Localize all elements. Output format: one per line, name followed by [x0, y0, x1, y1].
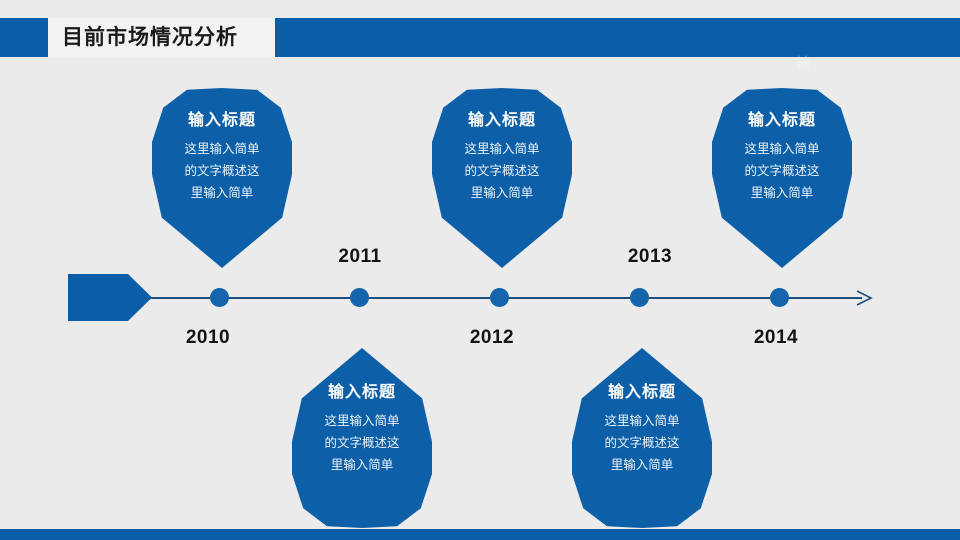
title-accent-block: [0, 18, 48, 57]
slide-canvas: 目前市场情况分析 输 2010 2011 2012 2013 2014 输入标题…: [0, 0, 960, 540]
pin-desc-line: 里输入简单: [584, 454, 700, 476]
pin-description: 这里输入简单 的文字概述这 里输入简单: [572, 410, 712, 476]
footer-accent-bar: [0, 529, 960, 540]
pin-desc-line: 这里输入简单: [164, 138, 280, 160]
pin-title: 输入标题: [432, 106, 572, 130]
pin-card-2014[interactable]: 输入标题 这里输入简单 的文字概述这 里输入简单: [712, 88, 852, 268]
pin-desc-line: 里输入简单: [304, 454, 420, 476]
year-label-2012: 2012: [470, 327, 514, 349]
pin-title: 输入标题: [152, 106, 292, 130]
pin-desc-line: 这里输入简单: [724, 138, 840, 160]
pin-desc-line: 的文字概述这: [164, 160, 280, 182]
timeline-arrow-icon: [856, 289, 874, 307]
page-title: 目前市场情况分析: [62, 18, 238, 57]
pin-title: 输入标题: [712, 106, 852, 130]
pin-content: 输入标题 这里输入简单 的文字概述这 里输入简单: [432, 106, 572, 204]
pin-desc-line: 里输入简单: [164, 182, 280, 204]
pin-card-2011[interactable]: 输入标题 这里输入简单 的文字概述这 里输入简单: [292, 348, 432, 528]
title-banner-bar: [275, 18, 960, 57]
timeline-dot-2014[interactable]: [770, 288, 789, 307]
pin-desc-line: 这里输入简单: [584, 410, 700, 432]
pin-desc-line: 这里输入简单: [304, 410, 420, 432]
timeline-dot-2011[interactable]: [350, 288, 369, 307]
pin-content: 输入标题 这里输入简单 的文字概述这 里输入简单: [712, 106, 852, 204]
pin-desc-line: 的文字概述这: [304, 432, 420, 454]
timeline-dot-2013[interactable]: [630, 288, 649, 307]
pin-desc-line: 的文字概述这: [584, 432, 700, 454]
year-label-2014: 2014: [754, 327, 798, 349]
pin-content: 输入标题 这里输入简单 的文字概述这 里输入简单: [572, 378, 712, 476]
pin-desc-line: 的文字概述这: [444, 160, 560, 182]
pin-description: 这里输入简单 的文字概述这 里输入简单: [292, 410, 432, 476]
ghost-watermark-text: 输: [796, 52, 811, 73]
year-label-2011: 2011: [338, 246, 381, 268]
pin-desc-line: 这里输入简单: [444, 138, 560, 160]
pin-content: 输入标题 这里输入简单 的文字概述这 里输入简单: [152, 106, 292, 204]
pin-description: 这里输入简单 的文字概述这 里输入简单: [432, 138, 572, 204]
year-label-2010: 2010: [186, 327, 230, 349]
pin-title: 输入标题: [292, 378, 432, 402]
pin-description: 这里输入简单 的文字概述这 里输入简单: [152, 138, 292, 204]
pin-card-2012[interactable]: 输入标题 这里输入简单 的文字概述这 里输入简单: [432, 88, 572, 268]
timeline-dot-2010[interactable]: [210, 288, 229, 307]
timeline-dot-2012[interactable]: [490, 288, 509, 307]
timeline-start-arrow-block: [68, 274, 152, 321]
pin-desc-line: 的文字概述这: [724, 160, 840, 182]
pin-title: 输入标题: [572, 378, 712, 402]
pin-description: 这里输入简单 的文字概述这 里输入简单: [712, 138, 852, 204]
pin-card-2013[interactable]: 输入标题 这里输入简单 的文字概述这 里输入简单: [572, 348, 712, 528]
pin-card-2010[interactable]: 输入标题 这里输入简单 的文字概述这 里输入简单: [152, 88, 292, 268]
pin-desc-line: 里输入简单: [724, 182, 840, 204]
pin-desc-line: 里输入简单: [444, 182, 560, 204]
pin-content: 输入标题 这里输入简单 的文字概述这 里输入简单: [292, 378, 432, 476]
year-label-2013: 2013: [628, 246, 672, 268]
